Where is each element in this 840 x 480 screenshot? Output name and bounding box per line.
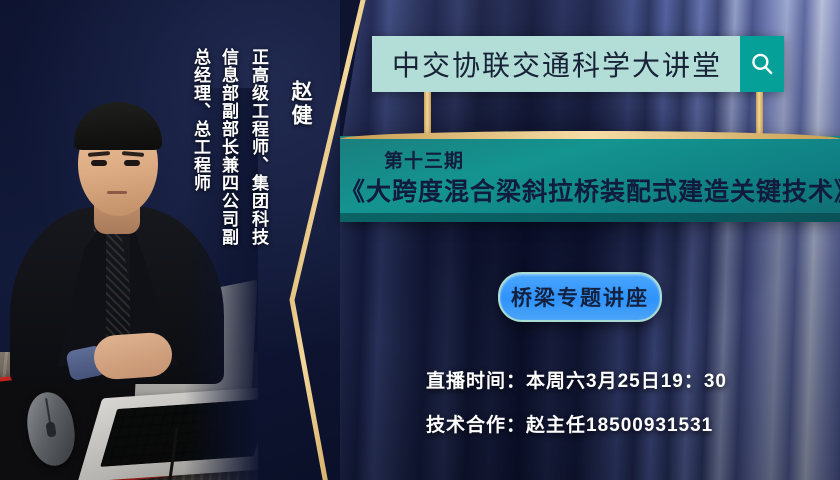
search-icon[interactable] bbox=[740, 36, 784, 92]
banner-title: 中交协联交通科学大讲堂 bbox=[372, 36, 740, 92]
left-panel: 总经理、总工程师 信息部副部长兼四公司副 正高级工程师、集团科技 赵健 bbox=[0, 0, 340, 480]
speaker-credential-line3: 总经理、总工程师 bbox=[188, 48, 213, 192]
main-title: 《大跨度混合梁斜拉桥装配式建造关键技术》 bbox=[340, 172, 840, 208]
gold-connector-right bbox=[756, 92, 763, 138]
gold-connector-left bbox=[424, 92, 431, 138]
speaker-credential-line2: 信息部副部长兼四公司副 bbox=[216, 48, 241, 246]
topic-pill-button[interactable]: 桥梁专题讲座 bbox=[498, 272, 662, 322]
speaker-credential-line1: 正高级工程师、集团科技 bbox=[246, 48, 271, 246]
title-bottom-strip bbox=[340, 213, 840, 222]
webinar-poster: 总经理、总工程师 信息部副部长兼四公司副 正高级工程师、集团科技 赵健 中交协联… bbox=[0, 0, 840, 480]
speaker-name: 赵健 bbox=[285, 80, 315, 128]
technical-contact: 技术合作：赵主任18500931531 bbox=[426, 410, 713, 437]
title-block: 第十三期 《大跨度混合梁斜拉桥装配式建造关键技术》 bbox=[340, 136, 840, 222]
header-banner: 中交协联交通科学大讲堂 bbox=[372, 36, 784, 92]
issue-number: 第十三期 bbox=[384, 146, 464, 173]
broadcast-time: 直播时间：本周六3月25日19：30 bbox=[426, 366, 727, 393]
